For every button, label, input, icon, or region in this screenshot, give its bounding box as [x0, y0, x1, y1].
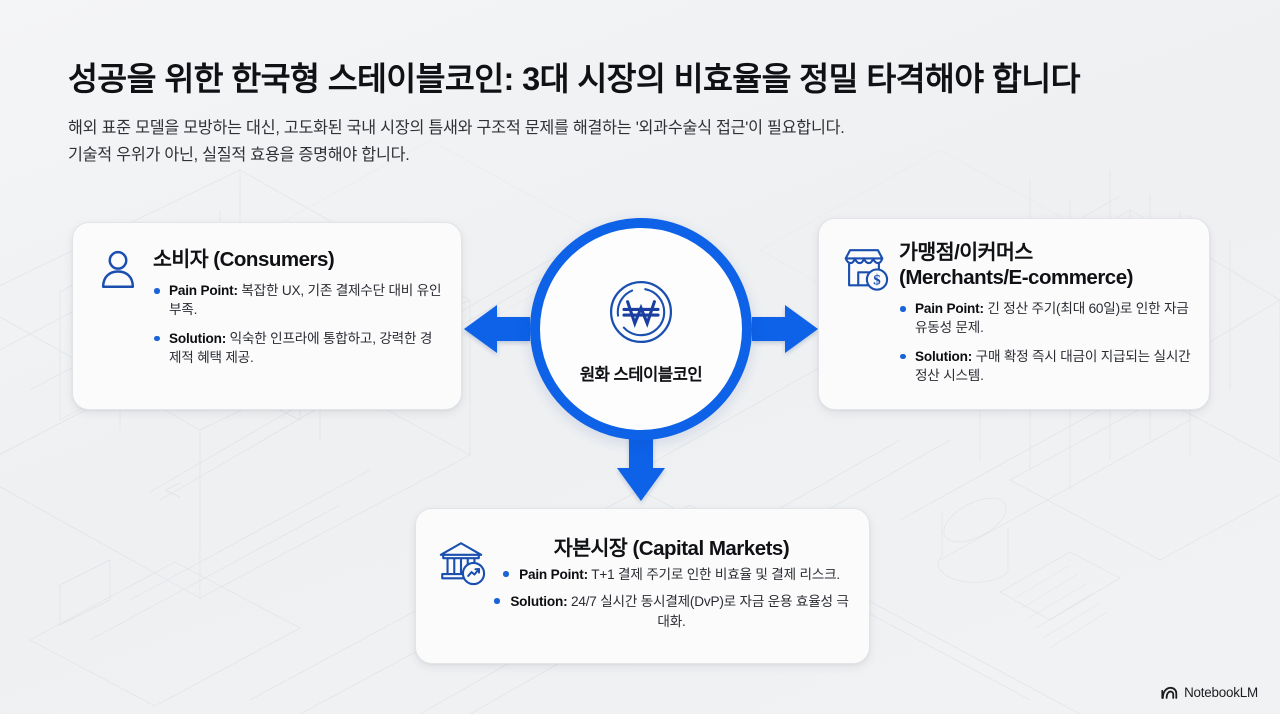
card-title-merchants: 가맹점/이커머스 (Merchants/E-commerce) [899, 240, 1191, 290]
bullet-label: Pain Point: [519, 567, 588, 582]
bullet-item: Solution: 구매 확정 즉시 대금이 지급되는 실시간 정산 시스템. [899, 347, 1191, 386]
slide-header: 성공을 위한 한국형 스테이블코인: 3대 시장의 비효율을 정밀 타격해야 합… [68, 60, 1218, 168]
page-title: 성공을 위한 한국형 스테이블코인: 3대 시장의 비효율을 정밀 타격해야 합… [68, 60, 1218, 98]
notebooklm-label: NotebookLM [1184, 685, 1258, 700]
arrow-down-icon [617, 434, 665, 501]
card-title-capital: 자본시장 (Capital Markets) [492, 536, 851, 561]
card-body-merchants: 가맹점/이커머스 (Merchants/E-commerce) Pain Poi… [899, 235, 1191, 386]
bullet-text: T+1 결제 주기로 인한 비효율 및 결제 리스크. [588, 567, 840, 582]
card-title-line-1: 가맹점/이커머스 [899, 240, 1191, 265]
card-body-capital: 자본시장 (Capital Markets) Pain Point: T+1 결… [492, 525, 851, 639]
bullet-item: Solution: 24/7 실시간 동시결제(DvP)로 자금 운용 효율성 … [492, 592, 851, 631]
bullet-label: Solution: [915, 349, 972, 364]
storefront-dollar-icon: $ [837, 243, 891, 297]
bullet-item: Solution: 익숙한 인프라에 통합하고, 강력한 경제적 혜택 제공. [153, 329, 443, 368]
bullet-item: Pain Point: 복잡한 UX, 기존 결제수단 대비 유인 부족. [153, 281, 443, 320]
bullet-list-consumers: Pain Point: 복잡한 UX, 기존 결제수단 대비 유인 부족. So… [153, 281, 443, 368]
page-subtitle: 해외 표준 모델을 모방하는 대신, 고도화된 국내 시장의 틈새와 구조적 문… [68, 115, 1218, 167]
bullet-label: Solution: [510, 594, 567, 609]
person-icon [91, 247, 145, 301]
svg-text:$: $ [873, 273, 881, 289]
card-capital-markets: 자본시장 (Capital Markets) Pain Point: T+1 결… [415, 508, 870, 664]
hub-circle: 원화 스테이블코인 [530, 218, 752, 440]
bank-trend-icon [434, 537, 488, 591]
card-title-line-2: (Merchants/E-commerce) [899, 265, 1191, 290]
bullet-list-merchants: Pain Point: 긴 정산 주기(최대 60일)로 인한 자금 유동성 문… [899, 299, 1191, 386]
bullet-label: Solution: [169, 331, 226, 346]
central-hub: 원화 스테이블코인 [530, 218, 752, 440]
bullet-item: Pain Point: T+1 결제 주기로 인한 비효율 및 결제 리스크. [492, 565, 851, 584]
bullet-label: Pain Point: [915, 301, 984, 316]
bullet-text: 24/7 실시간 동시결제(DvP)로 자금 운용 효율성 극대화. [567, 594, 848, 628]
arrow-left-icon [464, 305, 530, 353]
notebooklm-icon [1161, 685, 1178, 700]
card-title-consumers: 소비자 (Consumers) [153, 247, 443, 272]
arrow-right-icon [752, 305, 818, 353]
notebooklm-footer: NotebookLM [1161, 685, 1258, 700]
subtitle-line-2: 기술적 우위가 아닌, 실질적 효용을 증명해야 합니다. [68, 142, 1218, 168]
card-consumers: 소비자 (Consumers) Pain Point: 복잡한 UX, 기존 결… [72, 222, 462, 410]
bullet-label: Pain Point: [169, 283, 238, 298]
subtitle-line-1: 해외 표준 모델을 모방하는 대신, 고도화된 국내 시장의 틈새와 구조적 문… [68, 115, 1218, 141]
hub-label: 원화 스테이블코인 [580, 361, 702, 385]
bullet-item: Pain Point: 긴 정산 주기(최대 60일)로 인한 자금 유동성 문… [899, 299, 1191, 338]
card-merchants: $ 가맹점/이커머스 (Merchants/E-commerce) Pain P… [818, 218, 1210, 410]
bullet-list-capital: Pain Point: T+1 결제 주기로 인한 비효율 및 결제 리스크. … [492, 565, 851, 631]
won-coin-icon [608, 279, 674, 345]
slide-canvas: 성공을 위한 한국형 스테이블코인: 3대 시장의 비효율을 정밀 타격해야 합… [0, 0, 1280, 714]
card-body-consumers: 소비자 (Consumers) Pain Point: 복잡한 UX, 기존 결… [153, 239, 443, 368]
